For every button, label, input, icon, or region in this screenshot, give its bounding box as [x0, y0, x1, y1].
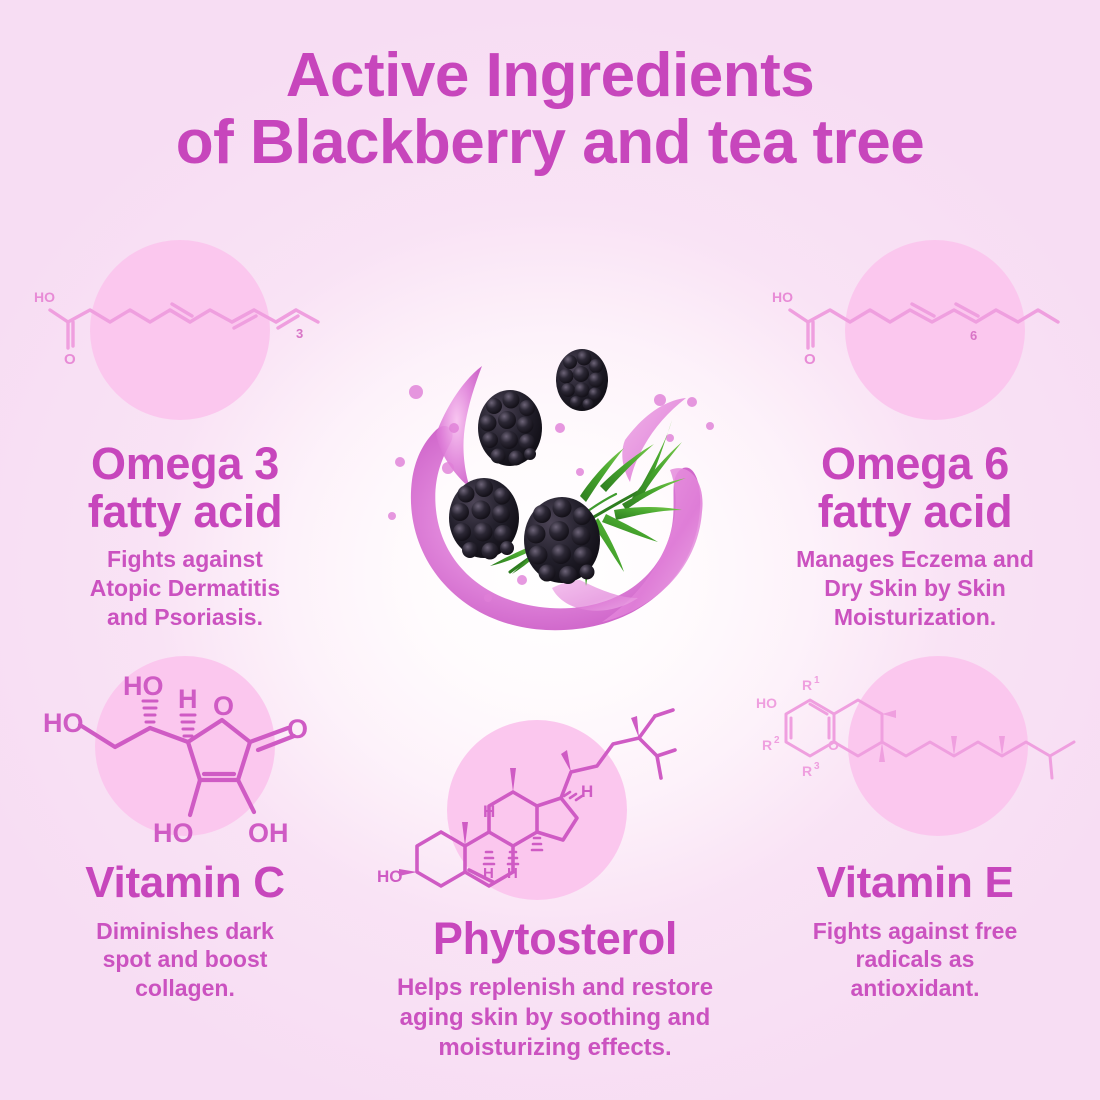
card-vitaminc: HO HO H O O HO OH Vitamin C Diminishes d…	[10, 650, 360, 1003]
svg-text:H: H	[507, 865, 518, 882]
title-line-2: of Blackberry and tea tree	[0, 111, 1100, 174]
svg-text:1: 1	[814, 675, 820, 686]
card-vitamine-title: Vitamin E	[740, 860, 1090, 907]
card-vitaminc-title: Vitamin C	[10, 860, 360, 907]
svg-text:H: H	[581, 782, 593, 801]
card-omega6: HO O 6 Omega 6 fatty acid Manages Eczema…	[740, 240, 1090, 632]
card-phytosterol-title: Phytosterol	[375, 915, 735, 963]
svg-text:6: 6	[970, 328, 977, 343]
svg-text:3: 3	[296, 326, 303, 341]
card-omega3-title: Omega 3 fatty acid	[10, 440, 360, 535]
omega3-art: HO O 3	[10, 240, 360, 440]
infographic-poster: Active Ingredients of Blackberry and tea…	[0, 0, 1100, 1100]
blackberry-upper-left	[478, 390, 542, 466]
vitaminc-art: HO HO H O O HO OH	[10, 650, 360, 860]
splash-illustration	[370, 330, 730, 660]
card-phytosterol-description: Helps replenish and restore aging skin b…	[375, 973, 735, 1063]
card-omega3-description: Fights against Atopic Dermatitis and Pso…	[10, 545, 360, 631]
vitamine-art: HO R 1 R 2 R 3 O	[740, 650, 1090, 860]
svg-text:3: 3	[814, 761, 820, 772]
blackberry-splash-image	[370, 330, 730, 660]
svg-text:HO: HO	[34, 289, 55, 305]
phytosterol-art: HO H H H H	[375, 700, 735, 915]
omega-6-fatty-acid-structure: HO O 6	[740, 240, 1090, 440]
page-title: Active Ingredients of Blackberry and tea…	[0, 44, 1100, 174]
svg-text:R: R	[762, 737, 772, 753]
svg-text:HO: HO	[772, 289, 793, 305]
svg-text:R: R	[802, 763, 812, 779]
svg-text:H: H	[483, 802, 495, 821]
card-vitamine: HO R 1 R 2 R 3 O Vitamin E Fights agains…	[740, 650, 1090, 1003]
blackberry-center-bottom	[524, 497, 600, 584]
svg-text:2: 2	[774, 735, 780, 746]
card-phytosterol: HO H H H H Phytosterol Helps replenish a…	[375, 700, 735, 1063]
phytosterol-steroid-structure: HO H H H H	[375, 700, 735, 915]
svg-text:O: O	[64, 351, 76, 368]
svg-text:OH: OH	[248, 818, 289, 848]
svg-text:R: R	[802, 677, 812, 693]
svg-text:H: H	[483, 865, 494, 882]
svg-text:HO: HO	[123, 671, 164, 701]
card-omega6-description: Manages Eczema and Dry Skin by Skin Mois…	[740, 545, 1090, 631]
title-line-1: Active Ingredients	[0, 44, 1100, 107]
tocopherol-structure: HO R 1 R 2 R 3 O	[740, 650, 1090, 860]
svg-text:O: O	[828, 737, 839, 753]
card-omega3: HO O 3 Omega 3 fatty acid Fights against…	[10, 240, 360, 632]
ascorbic-acid-structure: HO HO H O O HO OH	[10, 650, 360, 860]
card-omega6-title: Omega 6 fatty acid	[740, 440, 1090, 535]
svg-text:O: O	[213, 691, 234, 721]
svg-text:HO: HO	[377, 867, 403, 886]
card-vitaminc-description: Diminishes dark spot and boost collagen.	[10, 917, 360, 1003]
blackberry-top	[556, 349, 608, 411]
svg-text:H: H	[178, 684, 198, 714]
svg-text:HO: HO	[43, 708, 84, 738]
svg-text:O: O	[287, 714, 308, 744]
omega6-art: HO O 6	[740, 240, 1090, 440]
omega-3-fatty-acid-structure: HO O 3	[10, 240, 360, 440]
svg-text:HO: HO	[153, 818, 194, 848]
card-vitamine-description: Fights against free radicals as antioxid…	[740, 917, 1090, 1003]
svg-text:HO: HO	[756, 695, 777, 711]
svg-text:O: O	[804, 351, 816, 368]
blackberry-lower-left	[449, 478, 519, 560]
